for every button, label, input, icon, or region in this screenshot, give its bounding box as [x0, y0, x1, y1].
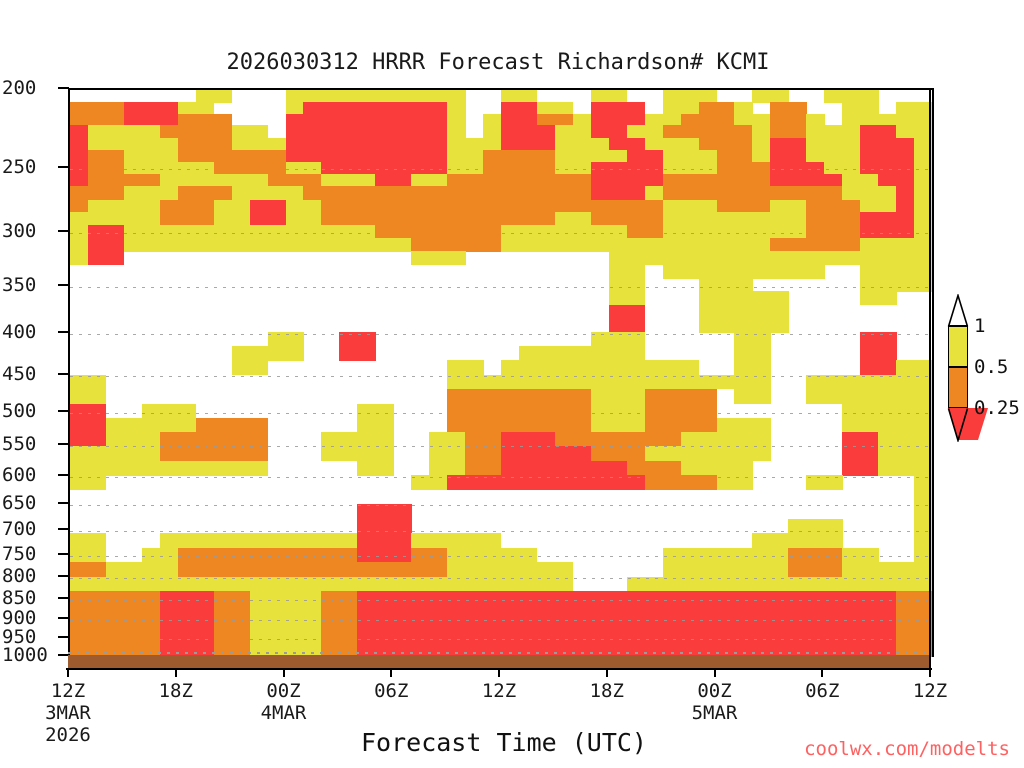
- heatmap-cell: [573, 114, 591, 126]
- heatmap-cell: [70, 562, 106, 577]
- heatmap-cell: [806, 114, 824, 126]
- heatmap-cell: [770, 174, 842, 187]
- heatmap-cell: [106, 418, 196, 433]
- heatmap-cell: [788, 519, 842, 534]
- heatmap-cell: [752, 150, 770, 162]
- heatmap-cell: [555, 150, 627, 162]
- heatmap-cell: [70, 162, 88, 175]
- colorbar-band-orange: [948, 367, 968, 408]
- heatmap-cell: [321, 591, 357, 657]
- heatmap-cell: [70, 225, 88, 239]
- heatmap-cell: [88, 238, 124, 252]
- colorbar-rule: [948, 325, 968, 327]
- heatmap-cell: [842, 446, 878, 461]
- heatmap-cell: [501, 125, 555, 138]
- heatmap-cell: [70, 446, 160, 461]
- heatmap-cell: [519, 346, 645, 361]
- heatmap-cell: [842, 548, 878, 563]
- heatmap-cell: [483, 162, 555, 175]
- heatmap-cell: [860, 212, 914, 225]
- chart-title-text: 2026030312 HRRR Forecast Richardson# KCM…: [226, 50, 769, 75]
- heatmap-cell: [609, 138, 645, 151]
- heatmap-cell: [357, 519, 411, 534]
- y-tick-label: 750: [2, 543, 58, 565]
- heatmap-cell: [303, 102, 447, 114]
- heatmap-cell: [806, 200, 860, 213]
- heatmap-cell: [555, 138, 609, 151]
- heatmap-cell: [842, 174, 878, 187]
- heatmap-cell: [591, 332, 645, 346]
- heatmap-cell: [663, 225, 807, 239]
- heatmap-cell: [734, 360, 770, 375]
- heatmap-cell: [699, 305, 789, 320]
- heatmap-cell: [501, 102, 537, 114]
- heatmap-cell: [663, 162, 717, 175]
- x-tick-time: 12Z: [51, 680, 85, 702]
- x-tick-time: 00Z: [266, 680, 300, 702]
- heatmap-cell: [70, 251, 88, 265]
- heatmap-cell: [357, 591, 896, 657]
- heatmap-cell: [860, 238, 932, 252]
- heatmap-cell: [663, 548, 789, 563]
- heatmap-cell: [70, 186, 124, 200]
- x-tick-label: 06Z: [805, 680, 839, 702]
- heatmap-cell: [196, 418, 268, 433]
- x-tick-mark: [175, 668, 177, 677]
- heatmap-cell: [681, 461, 753, 476]
- heatmap-cell: [591, 404, 645, 419]
- heatmap-cell: [483, 125, 501, 138]
- heatmap-cell: [429, 446, 465, 461]
- heatmap-cell: [752, 533, 842, 548]
- heatmap-cell: [286, 102, 304, 114]
- heatmap-cell: [645, 114, 681, 126]
- heatmap-cell: [609, 278, 645, 292]
- y-axis: 2002503003504004505005506006507007508008…: [0, 0, 58, 768]
- heatmap-cell: [321, 174, 375, 187]
- heatmap-cell: [681, 432, 771, 447]
- heatmap-cell: [70, 200, 88, 213]
- y-tick-label: 1000: [2, 644, 58, 666]
- y-tick-label: 350: [2, 274, 58, 296]
- x-tick-time: 18Z: [590, 680, 624, 702]
- heatmap-cell: [896, 102, 932, 114]
- heatmap-cell: [88, 225, 124, 239]
- heatmap-cell: [663, 562, 789, 577]
- y-tick-label: 300: [2, 220, 58, 242]
- heatmap-cell: [160, 446, 268, 461]
- heatmap-cell: [232, 186, 304, 200]
- heatmap-cell: [214, 162, 286, 175]
- x-tick-mark: [498, 668, 500, 677]
- heatmap-cell: [896, 360, 932, 375]
- plot-area: [68, 88, 934, 657]
- heatmap-cell: [429, 432, 465, 447]
- heatmap-cell: [160, 212, 214, 225]
- heatmap-cell: [609, 319, 645, 333]
- heatmap-cell: [645, 138, 699, 151]
- heatmap-cell: [447, 138, 501, 151]
- heatmap-cell: [232, 346, 304, 361]
- heatmap-cell: [717, 150, 753, 162]
- heatmap-cell: [357, 461, 393, 476]
- heatmap-cell: [806, 475, 842, 490]
- heatmap-cell: [465, 432, 501, 447]
- heatmap-cell: [860, 200, 896, 213]
- x-tick-mark: [821, 668, 823, 677]
- chart-title: 2026030312 HRRR Forecast Richardson# KCM…: [0, 50, 1024, 75]
- heatmap-cell: [447, 548, 537, 563]
- heatmap-cell: [411, 174, 447, 187]
- heatmap-cell: [268, 332, 304, 346]
- heatmap-cell: [555, 125, 591, 138]
- heatmap-cell: [663, 200, 717, 213]
- heatmap-cell: [717, 162, 771, 175]
- heatmap-cell: [124, 225, 376, 239]
- heatmap-cell: [70, 389, 106, 404]
- heatmap-cell: [250, 212, 286, 225]
- heatmap-cell: [160, 591, 214, 657]
- branding-label: coolwx.com/modelts: [804, 738, 1010, 760]
- heatmap-cell: [70, 475, 106, 490]
- y-tick-label: 450: [2, 363, 58, 385]
- heatmap-cell: [196, 90, 232, 103]
- heatmap-cell: [591, 212, 663, 225]
- heatmap-cell: [447, 389, 591, 404]
- heatmap-cell: [501, 461, 627, 476]
- heatmap-cell: [142, 548, 178, 563]
- heatmap-cell: [842, 432, 878, 447]
- heatmap-cell: [321, 212, 555, 225]
- heatmap-cell: [842, 186, 896, 200]
- heatmap-cell: [663, 174, 771, 187]
- heatmap-cell: [339, 332, 375, 346]
- x-tick-label: 12Z: [482, 680, 516, 702]
- x-tick-time: 06Z: [374, 680, 408, 702]
- heatmap-cell: [591, 162, 663, 175]
- heatmap-cell: [70, 461, 268, 476]
- heatmap-cell: [286, 138, 448, 151]
- heatmap-cell: [770, 200, 806, 213]
- heatmap-cell: [770, 114, 806, 126]
- heatmap-cell: [321, 200, 663, 213]
- heatmap-cell: [286, 114, 448, 126]
- heatmap-cell: [160, 432, 268, 447]
- heatmap-cell: [842, 418, 932, 433]
- heatmap-cell: [842, 102, 878, 114]
- heatmap-cell: [501, 238, 771, 252]
- heatmap-cell: [483, 150, 555, 162]
- heatmap-cell: [286, 90, 466, 103]
- x-tick-label: 00Z5MAR: [692, 680, 738, 724]
- heatmap-cell: [70, 404, 106, 419]
- heatmap-cell: [357, 548, 411, 563]
- heatmap-cell: [106, 432, 160, 447]
- heatmap-cell: [663, 150, 717, 162]
- heatmap-cell: [734, 346, 770, 361]
- heatmap-cell: [124, 114, 178, 126]
- y-tick-label: 500: [2, 400, 58, 422]
- heatmap-cell: [896, 200, 914, 213]
- heatmap-cell: [663, 264, 825, 278]
- heatmap-cell: [178, 102, 214, 114]
- heatmap-cell: [501, 360, 699, 375]
- heatmap-cell: [734, 114, 770, 126]
- heatmap-cell: [699, 291, 789, 305]
- heatmap-cell: [501, 90, 537, 103]
- heatmap-cell: [124, 102, 178, 114]
- heatmap-cell: [501, 225, 627, 239]
- heatmap-cell: [411, 238, 501, 252]
- heatmap-cell: [232, 125, 268, 138]
- y-tick-label: 600: [2, 464, 58, 486]
- heatmap-cell: [609, 305, 645, 320]
- x-tick-mark: [390, 668, 392, 677]
- heatmap-cell: [70, 238, 88, 252]
- x-tick-label: 06Z: [374, 680, 408, 702]
- heatmap-cells: [70, 90, 932, 657]
- heatmap-cell: [734, 102, 752, 114]
- heatmap-cell: [321, 446, 393, 461]
- heatmap-cell: [860, 278, 932, 292]
- heatmap-cell: [627, 125, 663, 138]
- heatmap-cell: [663, 186, 843, 200]
- heatmap-cell: [860, 125, 896, 138]
- heatmap-cell: [411, 475, 447, 490]
- x-tick-date: 4MAR: [261, 702, 307, 724]
- x-tick-time: 18Z: [159, 680, 193, 702]
- x-tick-time: 12Z: [482, 680, 516, 702]
- heatmap-cell: [806, 150, 860, 162]
- heatmap-cell: [88, 200, 160, 213]
- right-axis-line: [929, 88, 931, 668]
- heatmap-cell: [250, 200, 286, 213]
- heatmap-cell: [734, 332, 770, 346]
- heatmap-cell: [232, 138, 286, 151]
- heatmap-cell: [681, 114, 735, 126]
- heatmap-cell: [824, 90, 878, 103]
- heatmap-cell: [447, 174, 591, 187]
- chart-canvas: 2026030312 HRRR Forecast Richardson# KCM…: [0, 0, 1024, 768]
- colorbar-tick-label: 1: [974, 315, 985, 337]
- heatmap-cell: [663, 90, 717, 103]
- heatmap-cell: [357, 533, 411, 548]
- x-tick-mark: [929, 668, 931, 677]
- heatmap-cell: [717, 200, 771, 213]
- heatmap-cell: [160, 533, 358, 548]
- heatmap-cell: [447, 562, 573, 577]
- heatmap-cell: [70, 548, 106, 563]
- heatmap-cell: [591, 102, 645, 114]
- heatmap-cell: [501, 138, 555, 151]
- heatmap-cell: [699, 278, 753, 292]
- heatmap-cell: [178, 562, 448, 577]
- heatmap-cell: [160, 125, 232, 138]
- heatmap-cell: [160, 174, 268, 187]
- heatmap-cell: [896, 125, 932, 138]
- heatmap-cell: [357, 504, 411, 519]
- heatmap-cell: [860, 291, 896, 305]
- heatmap-cell: [70, 138, 88, 151]
- heatmap-cell: [465, 461, 501, 476]
- x-tick-mark: [283, 668, 285, 677]
- heatmap-cell: [860, 360, 896, 375]
- heatmap-cell: [447, 125, 465, 138]
- heatmap-cell: [447, 475, 645, 490]
- heatmap-cell: [286, 125, 448, 138]
- heatmap-cell: [357, 418, 393, 433]
- heatmap-cell: [70, 174, 88, 187]
- heatmap-cell: [555, 212, 591, 225]
- heatmap-cell: [70, 212, 160, 225]
- colorbar-cap-top-outline: [946, 294, 970, 328]
- heatmap-cell: [160, 200, 214, 213]
- heatmap-cell: [663, 125, 753, 138]
- heatmap-cell: [806, 212, 860, 225]
- y-tick-label: 800: [2, 565, 58, 587]
- heatmap-cell: [842, 562, 932, 577]
- heatmap-cell: [286, 162, 322, 175]
- heatmap-cell: [555, 432, 681, 447]
- heatmap-cell: [88, 150, 124, 162]
- heatmap-cell: [609, 291, 645, 305]
- heatmap-cell: [734, 389, 770, 404]
- heatmap-cell: [591, 446, 645, 461]
- heatmap-cell: [70, 114, 124, 126]
- colorbar-legend: 10.50.25: [946, 294, 970, 468]
- heatmap-cell: [375, 225, 501, 239]
- heatmap-cell: [645, 418, 717, 433]
- heatmap-cell: [699, 102, 735, 114]
- heatmap-cell: [70, 150, 88, 162]
- heatmap-cell: [411, 533, 501, 548]
- x-tick-label: 18Z: [159, 680, 193, 702]
- heatmap-cell: [465, 446, 501, 461]
- x-tick-date: 3MAR: [45, 702, 91, 724]
- heatmap-cell: [70, 577, 573, 592]
- heatmap-cell: [770, 138, 806, 151]
- heatmap-cell: [645, 404, 717, 419]
- heatmap-cell: [70, 533, 106, 548]
- heatmap-cell: [806, 225, 860, 239]
- heatmap-cell: [770, 125, 806, 138]
- heatmap-cell: [339, 346, 375, 361]
- heatmap-cell: [70, 591, 160, 657]
- heatmap-cell: [501, 114, 537, 126]
- heatmap-cell: [663, 212, 807, 225]
- heatmap-cell: [591, 389, 645, 404]
- heatmap-cell: [178, 150, 286, 162]
- heatmap-cell: [321, 432, 393, 447]
- heatmap-cell: [770, 102, 806, 114]
- heatmap-cell: [806, 125, 860, 138]
- heatmap-cell: [860, 225, 914, 239]
- heatmap-cell: [860, 332, 896, 346]
- heatmap-cell: [609, 251, 932, 265]
- heatmap-cell: [842, 404, 932, 419]
- heatmap-cell: [88, 162, 124, 175]
- heatmap-cell: [88, 125, 160, 138]
- heatmap-cell: [447, 162, 483, 175]
- heatmap-cell: [124, 186, 178, 200]
- heatmap-cell: [250, 591, 322, 657]
- heatmap-cell: [88, 138, 178, 151]
- heatmap-cell: [501, 432, 555, 447]
- heatmap-cell: [447, 150, 483, 162]
- y-tick-label: 550: [2, 433, 58, 455]
- heatmap-cell: [806, 375, 932, 389]
- heatmap-cell: [860, 150, 914, 162]
- heatmap-cell: [806, 138, 860, 151]
- heatmap-cell: [429, 461, 465, 476]
- x-tick-label: 12Z: [913, 680, 947, 702]
- terrain-gridline: [68, 652, 930, 654]
- x-tick-mark: [606, 668, 608, 677]
- heatmap-cell: [70, 102, 124, 114]
- heatmap-cell: [214, 591, 250, 657]
- heatmap-cell: [591, 418, 645, 433]
- heatmap-cell: [537, 114, 573, 126]
- heatmap-cell: [178, 138, 232, 151]
- x-tick-mark: [67, 668, 69, 677]
- heatmap-cell: [591, 186, 645, 200]
- heatmap-cell: [88, 174, 160, 187]
- heatmap-cell: [321, 162, 447, 175]
- x-axis-title-text: Forecast Time (UTC): [361, 728, 647, 757]
- heatmap-cell: [106, 562, 178, 577]
- heatmap-cell: [178, 186, 232, 200]
- heatmap-cell: [70, 432, 106, 447]
- x-tick-label: 00Z4MAR: [261, 680, 307, 724]
- heatmap-cell: [591, 125, 627, 138]
- heatmap-cell: [770, 238, 860, 252]
- heatmap-cell: [124, 150, 178, 162]
- heatmap-cell: [896, 186, 914, 200]
- heatmap-cell: [124, 238, 412, 252]
- heatmap-cell: [447, 404, 591, 419]
- heatmap-cell: [70, 375, 106, 389]
- heatmap-cell: [878, 461, 932, 476]
- colorbar-tick-label: 0.5: [974, 356, 1008, 378]
- heatmap-cell: [645, 186, 663, 200]
- heatmap-cell: [303, 186, 591, 200]
- heatmap-cell: [645, 446, 771, 461]
- heatmap-cell: [627, 461, 681, 476]
- y-tick-label: 700: [2, 518, 58, 540]
- x-tick-mark: [714, 668, 716, 677]
- heatmap-cell: [770, 162, 824, 175]
- heatmap-cell: [591, 90, 627, 103]
- heatmap-cell: [609, 264, 645, 278]
- y-tick-label: 200: [2, 77, 58, 99]
- heatmap-cell: [860, 264, 932, 278]
- colorbar-cap-bottom-outline: [946, 408, 970, 442]
- heatmap-cell: [860, 162, 914, 175]
- heatmap-cell: [591, 114, 645, 126]
- heatmap-cell: [717, 418, 771, 433]
- x-tick-time: 12Z: [913, 680, 947, 702]
- heatmap-cell: [770, 150, 806, 162]
- heatmap-cell: [232, 360, 268, 375]
- heatmap-cell: [645, 475, 717, 490]
- heatmap-cell: [878, 446, 932, 461]
- heatmap-cell: [178, 548, 358, 563]
- x-tick-time: 00Z: [697, 680, 731, 702]
- heatmap-cell: [842, 461, 878, 476]
- heatmap-cell: [178, 114, 232, 126]
- colorbar-band-yellow: [948, 326, 968, 367]
- heatmap-cell: [591, 174, 663, 187]
